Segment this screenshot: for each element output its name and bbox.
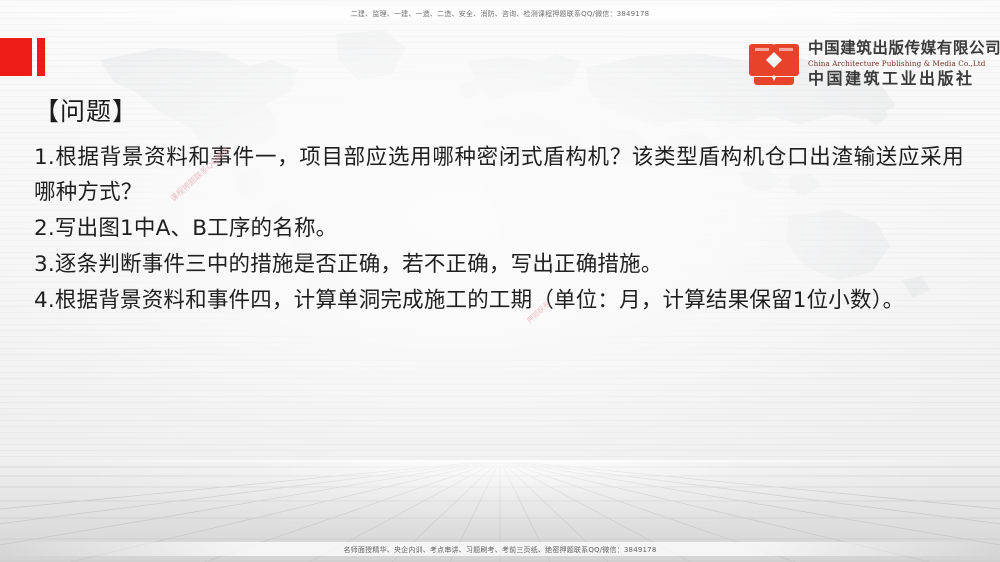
publisher-company-name-en: China Architecture Publishing & Media Co… (808, 60, 1000, 67)
open-book-icon (748, 39, 800, 89)
question-item-4: 4.根据背景资料和事件四，计算单洞完成施工的工期（单位：月，计算结果保留1位小数… (34, 284, 964, 319)
watermark-text-bottom: 名师面授精华、央企内训、考点串讲、习题刷考、考前三页纸、绝密押题联系QQ/微信：… (0, 545, 1000, 555)
publisher-logo: 中国建筑出版传媒有限公司 China Architecture Publishi… (748, 36, 970, 92)
decor-red-block-large (0, 38, 32, 76)
question-item-2: 2.写出图1中A、B工序的名称。 (34, 212, 964, 247)
publisher-press-name-cn: 中国建筑工业出版社 (808, 71, 1000, 87)
slide-canvas: 中国建筑出版传媒有限公司 China Architecture Publishi… (0, 0, 1000, 562)
publisher-company-name-cn: 中国建筑出版传媒有限公司 (808, 41, 1000, 57)
decor-red-block-small (37, 38, 45, 76)
watermark-text-top: 二建、监理、一建、一造、二造、安全、消防、咨询、检测课程押题联系QQ/微信：38… (0, 9, 1000, 19)
question-list: 1.根据背景资料和事件一，项目部应选用哪种密闭式盾构机？该类型盾构机仓口出渣输送… (34, 141, 964, 318)
question-item-3: 3.逐条判断事件三中的措施是否正确，若不正确，写出正确措施。 (34, 248, 964, 283)
page-title: 【问题】 (34, 96, 964, 127)
publisher-logo-text: 中国建筑出版传媒有限公司 China Architecture Publishi… (808, 41, 1000, 87)
floor-horizon-line (0, 460, 1000, 462)
slide-content: 【问题】 1.根据背景资料和事件一，项目部应选用哪种密闭式盾构机？该类型盾构机仓… (34, 96, 964, 319)
